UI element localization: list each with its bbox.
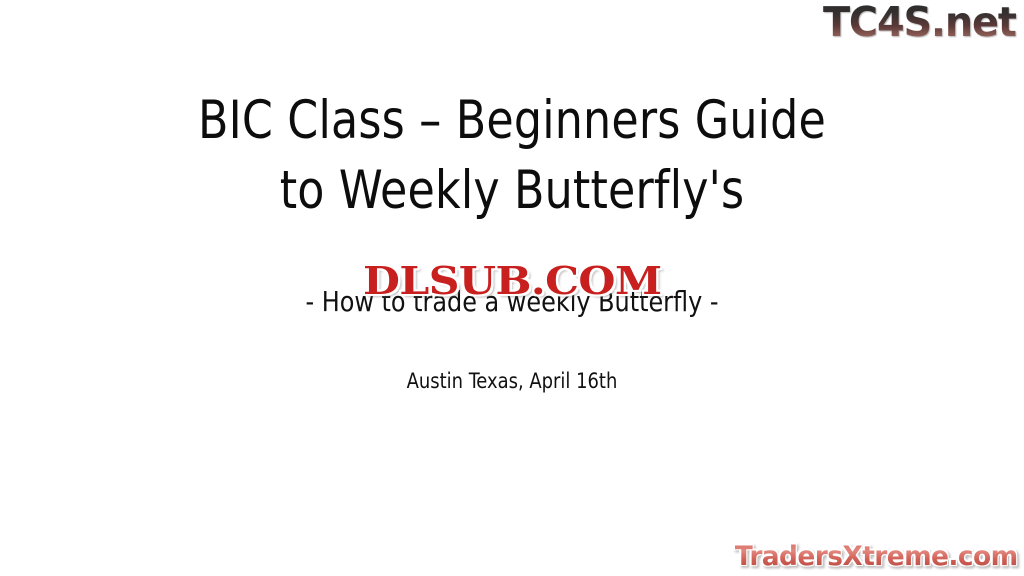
presentation-slide: TC4S.net BIC Class – Beginners Guide to …	[0, 0, 1024, 576]
slide-subtitle-container: - How to trade a weekly Butterfly -	[0, 285, 1024, 319]
slide-date-container: Austin Texas, April 16th	[0, 368, 1024, 394]
title-line-2: to Weekly Butterfly's	[36, 156, 988, 226]
slide-title: BIC Class – Beginners Guide to Weekly Bu…	[0, 86, 1024, 226]
slide-subtitle: - How to trade a weekly Butterfly -	[26, 285, 999, 319]
tradersxtreme-watermark-logo: TradersXtreme.com	[735, 543, 1018, 570]
slide-date-location: Austin Texas, April 16th	[26, 368, 999, 394]
title-line-1: BIC Class – Beginners Guide	[36, 86, 988, 156]
tc4s-watermark-logo: TC4S.net	[823, 2, 1016, 43]
